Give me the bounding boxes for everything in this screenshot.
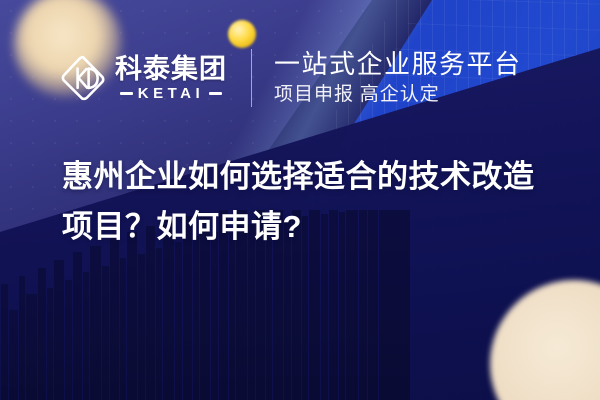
promo-banner: 科泰集团 KETAI 一站式企业服务平台 项目申报 高企认定 惠州企业如何选择适… — [0, 0, 600, 400]
company-name-en: KETAI — [138, 86, 204, 101]
slogan-block: 一站式企业服务平台 项目申报 高企认定 — [274, 50, 522, 107]
left-dash-icon — [120, 92, 133, 95]
page-title-line-2: 项目？如何申请? — [62, 202, 562, 252]
ketai-diamond-monogram-icon — [60, 54, 106, 102]
page-title: 惠州企业如何选择适合的技术改造 项目？如何申请? — [62, 152, 562, 252]
company-name-cn: 科泰集团 — [115, 55, 227, 83]
company-logo[interactable]: 科泰集团 KETAI — [60, 54, 227, 102]
logo-wordmark: 科泰集团 KETAI — [115, 55, 227, 100]
banner-header: 科泰集团 KETAI 一站式企业服务平台 项目申报 高企认定 — [0, 42, 600, 114]
slogan-primary: 一站式企业服务平台 — [274, 50, 522, 79]
page-title-line-1: 惠州企业如何选择适合的技术改造 — [62, 152, 562, 202]
right-dash-icon — [209, 92, 222, 95]
slogan-secondary: 项目申报 高企认定 — [274, 84, 522, 107]
company-name-en-row: KETAI — [115, 86, 227, 101]
vertical-divider — [251, 49, 252, 107]
